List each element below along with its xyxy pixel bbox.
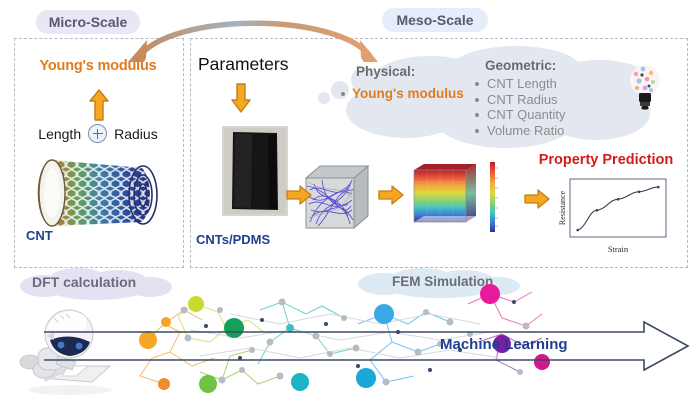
arrow-up-icon xyxy=(88,88,110,122)
flow-arrow-icon xyxy=(524,188,550,210)
physical-heading: Physical: xyxy=(356,64,415,79)
cnts-pdms-label: CNTs/PDMS xyxy=(196,232,270,247)
arrow-down-icon xyxy=(230,82,252,114)
chart-ylabel: Resistance xyxy=(558,190,567,225)
micro-youngs-modulus-label: Young's modulus xyxy=(20,58,176,74)
list-item: Volume Ratio xyxy=(474,123,566,139)
diagram-canvas: Micro-Scale Meso-Scale Young's modulus L… xyxy=(0,0,700,403)
list-item: CNT Length xyxy=(474,76,566,92)
lightbulb-icon xyxy=(626,60,664,112)
geometric-items-list: CNT Length CNT Radius CNT Quantity Volum… xyxy=(474,76,566,138)
cnt-label: CNT xyxy=(26,228,53,243)
cnt-nanotube-illustration xyxy=(22,150,172,236)
fem-result-cube xyxy=(408,160,482,234)
length-label: Length xyxy=(38,126,81,142)
parameters-label: Parameters xyxy=(198,54,288,75)
list-item: CNT Radius xyxy=(474,92,566,108)
machine-learning-label: Machine Learning xyxy=(440,336,568,353)
chart-xlabel: Strain xyxy=(608,244,629,254)
property-prediction-title: Property Prediction xyxy=(530,152,682,168)
flow-arrow-icon xyxy=(286,184,312,206)
physical-item-youngs-modulus: Young's modulus xyxy=(352,86,464,101)
fem-colorbar xyxy=(490,162,498,232)
flow-arrow-icon xyxy=(378,184,404,206)
geometric-heading: Geometric: xyxy=(485,58,556,73)
cnts-pdms-sample-photo xyxy=(222,126,288,216)
machine-learning-arrow xyxy=(44,320,690,372)
plus-circle-icon xyxy=(88,124,107,143)
rve-cube-model xyxy=(302,160,374,232)
list-item: CNT Quantity xyxy=(474,107,566,123)
radius-label: Radius xyxy=(114,126,158,142)
resistance-strain-chart: Strain Resistance xyxy=(556,176,674,256)
meso-scale-badge: Meso-Scale xyxy=(382,8,488,32)
physical-bullet-icon xyxy=(341,92,345,96)
micro-inputs-row: Length Radius xyxy=(18,124,178,143)
dft-calculation-label: DFT calculation xyxy=(32,274,136,290)
